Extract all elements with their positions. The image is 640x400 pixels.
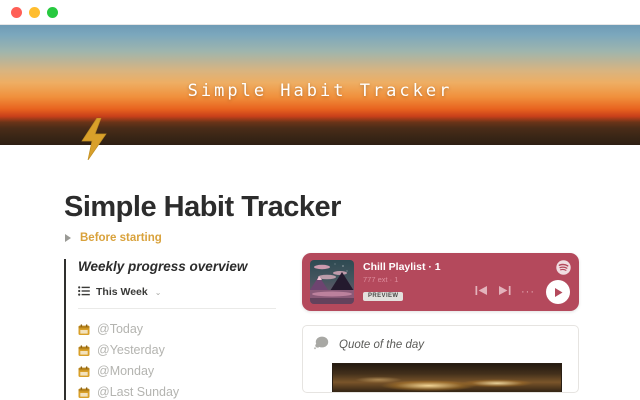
player-controls: ··· (475, 280, 570, 304)
quote-label: Quote of the day (339, 339, 424, 351)
cover-title-text: Simple Habit Tracker (0, 81, 640, 101)
calendar-icon (78, 365, 90, 377)
list-item[interactable]: @Yesterday (78, 339, 284, 360)
calendar-icon (78, 323, 90, 335)
previous-track-icon[interactable] (475, 283, 488, 301)
page-body: Simple Habit Tracker Before starting Wee… (0, 145, 640, 400)
quote-callout-card[interactable]: Quote of the day (302, 325, 579, 393)
left-column: Weekly progress overview This Week (64, 259, 284, 400)
calendar-icon (78, 344, 90, 356)
list-item[interactable]: @Today (78, 318, 284, 339)
track-title: Chill Playlist · 1 (363, 261, 571, 273)
list-item-label: @Monday (97, 364, 154, 378)
date-list: @Today @Yesterday (78, 318, 284, 400)
list-item-label: @Last Sunday (97, 385, 179, 399)
calendar-icon (78, 386, 90, 398)
view-selector[interactable]: This Week ⌄ (78, 283, 276, 309)
music-embed-card[interactable]: Chill Playlist · 1 777 ext · 1 PREVIEW (302, 253, 579, 311)
window-titlebar (0, 0, 640, 25)
toggle-label: Before starting (80, 232, 162, 244)
close-button[interactable] (11, 7, 22, 18)
traffic-lights (11, 7, 58, 18)
quote-image (332, 363, 562, 393)
list-item-label: @Yesterday (97, 343, 165, 357)
play-button[interactable] (546, 280, 570, 304)
zoom-button[interactable] (47, 7, 58, 18)
quote-header: Quote of the day (313, 335, 568, 355)
list-item[interactable]: @Monday (78, 360, 284, 381)
database-title: Weekly progress overview (78, 259, 284, 274)
lightning-bolt-icon[interactable] (77, 118, 111, 160)
preview-badge: PREVIEW (363, 292, 403, 301)
minimize-button[interactable] (29, 7, 40, 18)
album-art (310, 260, 354, 304)
list-item[interactable]: @Last Sunday (78, 381, 284, 400)
chevron-down-icon[interactable]: ⌄ (155, 288, 162, 297)
app-window: Simple Habit Tracker Simple Habit Tracke… (0, 0, 640, 400)
speech-bubble-icon (313, 335, 330, 355)
list-item-label: @Today (97, 322, 143, 336)
spotify-icon[interactable] (556, 260, 571, 275)
toggle-before-starting[interactable]: Before starting (65, 232, 162, 244)
right-column: Chill Playlist · 1 777 ext · 1 PREVIEW (302, 253, 582, 393)
more-options-icon[interactable]: ··· (521, 288, 535, 296)
view-name-label: This Week (96, 286, 148, 298)
list-view-icon (78, 283, 90, 301)
chevron-right-icon[interactable] (65, 234, 71, 242)
page-title: Simple Habit Tracker (64, 191, 341, 224)
next-track-icon[interactable] (498, 283, 511, 301)
column-divider (64, 259, 66, 400)
